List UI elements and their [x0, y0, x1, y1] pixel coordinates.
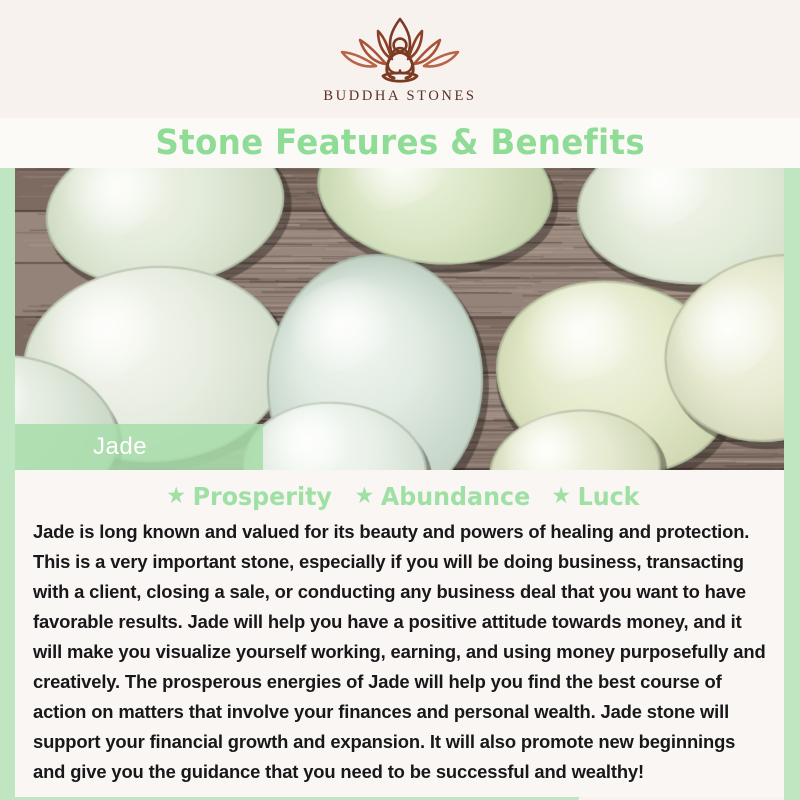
stone-description: Jade is long known and valued for its be…	[33, 517, 770, 787]
star-icon: ★	[166, 485, 186, 508]
brand-name: BUDDHA STONES	[323, 88, 476, 105]
stone-info-card: BUDDHA STONES Stone Features & Benefits …	[0, 0, 800, 800]
star-icon: ★	[354, 485, 374, 508]
keyword-label: Prosperity	[192, 482, 331, 511]
keyword-prosperity: ★ Prosperity	[166, 482, 332, 511]
title-band: Stone Features & Benefits	[0, 118, 800, 168]
keyword-abundance: ★ Abundance	[354, 482, 530, 511]
keyword-list: ★ Prosperity ★ Abundance ★ Luck	[33, 482, 770, 511]
stone-name-badge: Jade	[15, 424, 263, 470]
stone-name-label: Jade	[93, 433, 147, 461]
content-area: ★ Prosperity ★ Abundance ★ Luck Jade is …	[15, 470, 784, 797]
stone-photo: Jade	[15, 168, 784, 470]
lotus-meditation-icon	[326, 14, 474, 86]
page-title: Stone Features & Benefits	[155, 123, 645, 163]
keyword-label: Luck	[577, 482, 639, 511]
star-icon: ★	[551, 485, 571, 508]
keyword-label: Abundance	[381, 482, 530, 511]
brand-header: BUDDHA STONES	[0, 0, 800, 118]
keyword-luck: ★ Luck	[551, 482, 639, 511]
